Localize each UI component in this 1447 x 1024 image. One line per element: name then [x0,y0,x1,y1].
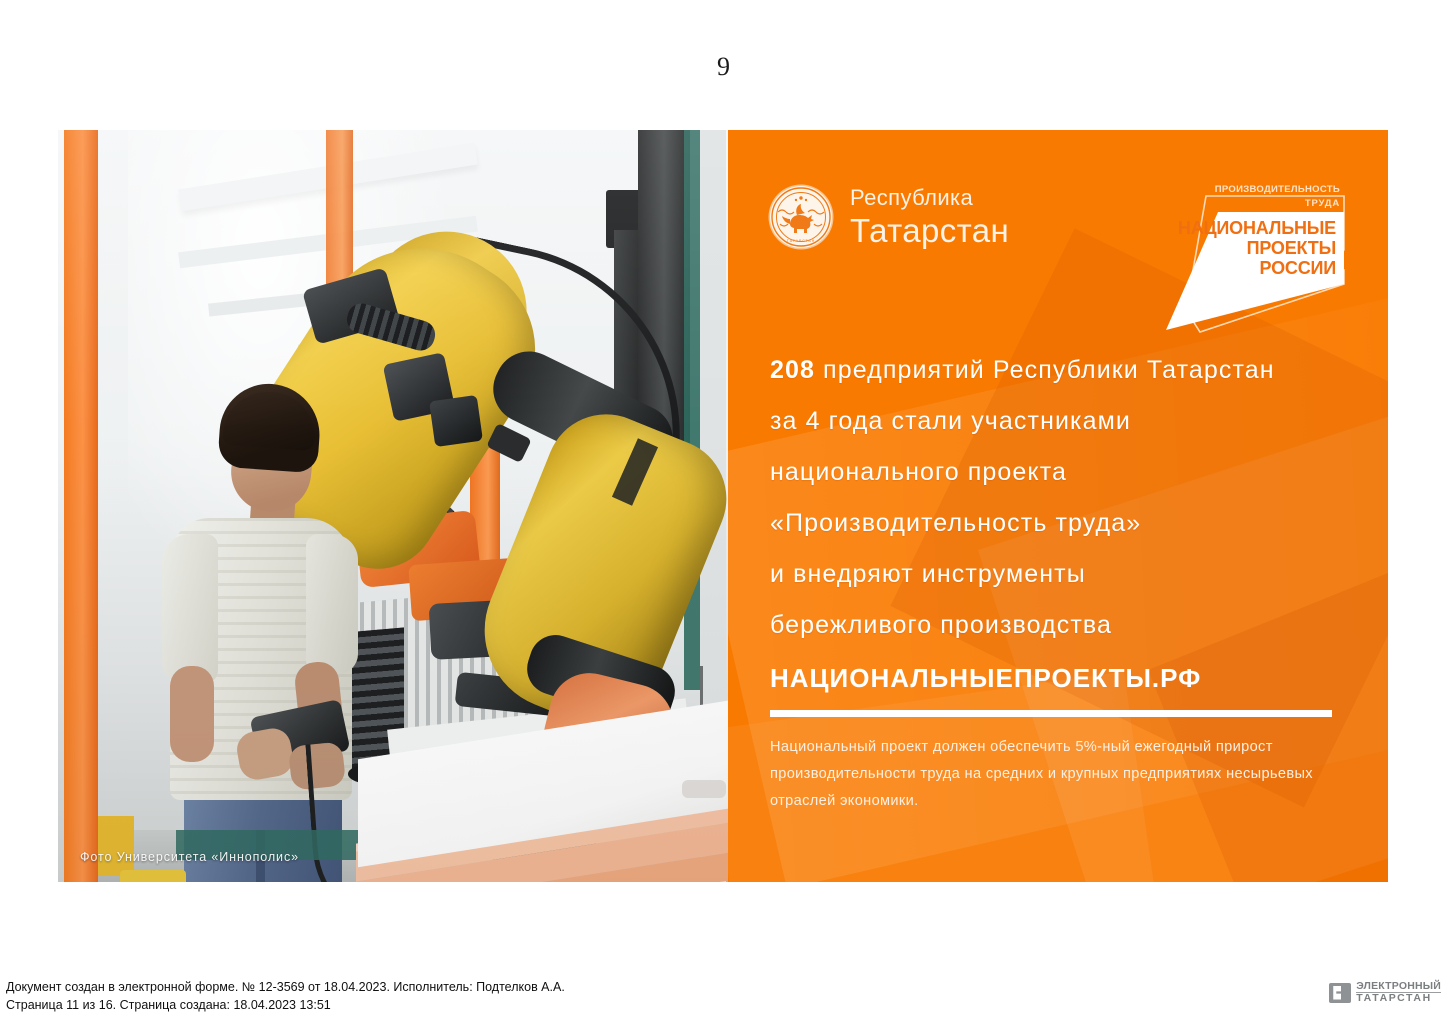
document-footer: Документ создан в электронной форме. № 1… [0,972,1447,1024]
headline-line-1-rest: предприятий Республики Татарстан [815,356,1275,384]
panel-header: ТАТАРСТАН Республика Татарстан ПРОИЗВОДИ… [770,172,1348,352]
worker-sleeve [306,534,358,674]
electronic-tatarstan-mark-icon [1329,983,1351,1003]
tatarstan-logo-line1: Республика [850,187,1009,209]
yellow-crate [98,816,134,876]
electronic-tatarstan-logo: ЭЛЕКТРОННЫЙ ТАТАРСТАН [1329,981,1441,1004]
photo-panel: Фото Университета «Иннополис» [58,130,728,882]
worker-arm [170,666,214,762]
headline-line-3: национального проекта [770,447,1348,498]
photo-credit-caption: Фото Университета «Иннополис» [80,850,299,864]
headline-block: 208 предприятий Республики Татарстан за … [770,345,1348,651]
headline-line-4: «Производительность труда» [770,498,1348,549]
headline-line-6: бережливого производства [770,600,1348,651]
orange-content-panel: ТАТАРСТАН Республика Татарстан ПРОИЗВОДИ… [728,130,1388,882]
worker-sleeve [162,534,218,684]
probe-foot [682,780,726,798]
slide-container: Фото Университета «Иннополис» [58,130,1388,882]
national-projects-logo: ПРОИЗВОДИТЕЛЬНОСТЬ ТРУДА НАЦИОНАЛЬНЫЕ ПР… [1148,172,1348,357]
tatarstan-coat-of-arms-icon: ТАТАРСТАН [770,186,832,248]
website-domain[interactable]: НАЦИОНАЛЬНЫЕПРОЕКТЫ.РФ [770,663,1201,694]
np-logo-top-line1: ПРОИЗВОДИТЕЛЬНОСТЬ [1215,184,1340,195]
yellow-crate [120,870,186,882]
orange-column-left [64,130,98,882]
footer-line-2: Страница 11 из 16. Страница создана: 18.… [6,996,565,1014]
tatarstan-logo-line2: Татарстан [850,214,1009,247]
tatarstan-logo: ТАТАРСТАН Республика Татарстан [770,186,1009,248]
electronic-tatarstan-logo-text: ЭЛЕКТРОННЫЙ ТАТАРСТАН [1356,981,1441,1004]
electronic-tatarstan-line2: ТАТАРСТАН [1356,993,1441,1004]
np-logo-main-line2: ПРОЕКТЫ [1247,238,1336,258]
np-logo-main-line3: РОССИИ [1260,258,1336,278]
footer-metadata: Документ создан в электронной форме. № 1… [6,978,565,1014]
svg-text:ТАТАРСТАН: ТАТАРСТАН [787,239,815,243]
np-logo-top-line2: ТРУДА [1305,198,1340,209]
headline-line-2: за 4 года стали участниками [770,396,1348,447]
page-number: 9 [0,52,1447,82]
sensor-head [429,395,483,447]
tatarstan-logo-text: Республика Татарстан [850,187,1009,247]
white-divider-rule [770,710,1332,717]
headline-line-1: 208 предприятий Республики Татарстан [770,345,1348,396]
footer-line-1: Документ создан в электронной форме. № 1… [6,978,565,996]
footnote-text: Национальный проект должен обеспечить 5%… [770,734,1330,815]
headline-line-5: и внедряют инструменты [770,549,1348,600]
headline-number: 208 [770,356,815,384]
np-logo-main-line1: НАЦИОНАЛЬНЫЕ [1178,218,1336,238]
